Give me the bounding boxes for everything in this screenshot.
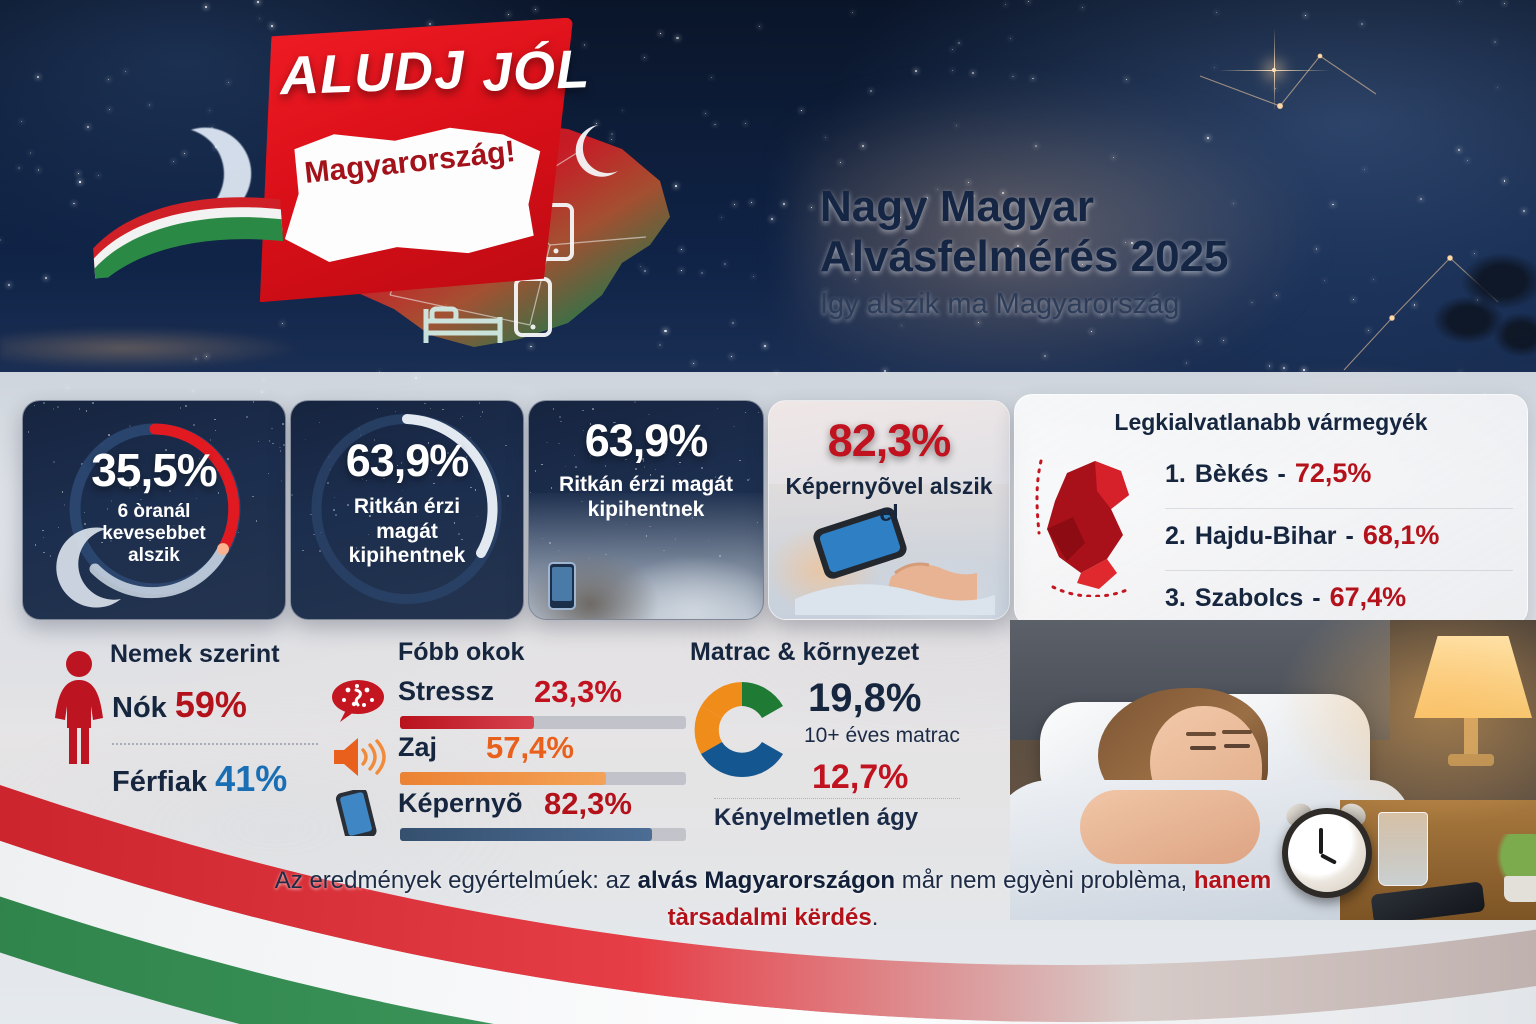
mattress-secondary-value: 12,7%: [812, 758, 908, 797]
gender-label-men: Férfiak: [112, 766, 207, 798]
cause-bar-track-screen: [400, 828, 686, 841]
segmented-donut-icon: [684, 670, 800, 790]
causes-title: Fóbb okok: [398, 638, 524, 667]
county-name: Szabolcs: [1195, 584, 1303, 613]
mattress-panel: Matrac & kõrnyezet 19,8% 10+ éves matrac…: [684, 638, 1014, 838]
county-rank: 3.: [1165, 584, 1186, 613]
stat-card-3-label: Ritkán érzi magát kipihentnek: [529, 473, 763, 522]
stat-card-1-value: 35,5%: [23, 443, 285, 497]
hungarian-flag-ribbon: [83, 179, 289, 279]
cause-bar-track-stress: [400, 716, 686, 729]
county-dash: -: [1346, 522, 1354, 551]
page-subtitle: Így alszik ma Magyarország: [820, 288, 1460, 321]
gender-row-women[interactable]: Nók 59%: [112, 684, 247, 726]
cause-bar-fill-stress: [400, 716, 534, 729]
conclusion-part2: mår nem egyèni problèma,: [895, 867, 1194, 894]
smartphone-icon: [543, 559, 583, 613]
county-rank: 2.: [1165, 522, 1186, 551]
county-pct: 67,4%: [1330, 582, 1407, 613]
conclusion-part1: Az eredmények egyértelmúek: az: [275, 867, 638, 894]
cause-label-stress: Stressz: [398, 676, 494, 707]
cause-row-noise[interactable]: Zaj 57,4%: [330, 732, 690, 786]
stat-card-3[interactable]: 63,9% Ritkán érzi magát kipihentnek: [528, 400, 764, 620]
stat-card-2-label: Ritkán érzi magát kipihentnek: [291, 495, 523, 569]
mattress-divider: [714, 798, 960, 799]
loud-speaker-icon: [330, 734, 386, 780]
cause-row-stress[interactable]: Stressz 23,3%: [330, 676, 690, 730]
conclusion-part3: .: [872, 904, 879, 931]
title-line-1: Nagy Magyar: [820, 182, 1094, 231]
gender-divider: [112, 743, 318, 745]
page-title-block: Nagy Magyar Alvásfelmérés 2025 Így alszi…: [820, 182, 1460, 321]
smartphone-icon: [330, 790, 386, 836]
county-row[interactable]: 2. Hajdu-Bihar - 68,1%: [1165, 508, 1513, 570]
title-line-2: Alvásfelmérés 2025: [820, 232, 1229, 281]
counties-title: Legkialvatlanabb vármegyék: [1015, 409, 1527, 436]
cause-value-noise: 57,4%: [486, 730, 574, 766]
gender-panel: Nemek szerint Nók 59% Férfiak 41%: [40, 640, 330, 800]
stat-card-4-value: 82,3%: [769, 415, 1009, 467]
conclusion-text: Az eredmények egyértelmúek: az alvás Mag…: [268, 862, 1278, 936]
gender-value-women: 59%: [175, 684, 247, 725]
stat-card-1-label: 6 òranál kevesebbet alszik: [23, 501, 285, 568]
county-dash: -: [1278, 460, 1286, 489]
cause-row-screen[interactable]: Képernyõ 82,3%: [330, 788, 690, 842]
stat-card-2[interactable]: 63,9% Ritkán érzi magát kipihentnek: [290, 400, 524, 620]
badge-title-line1: ALUDJ: [279, 39, 466, 107]
counties-panel: Legkialvatlanabb vármegyék 1. Bèkés - 72…: [1014, 394, 1528, 626]
county-name: Hajdu-Bihar: [1195, 522, 1337, 551]
stat-card-4[interactable]: 82,3% Képernyõvel alszik el: [768, 400, 1010, 620]
cause-value-screen: 82,3%: [544, 786, 632, 822]
stat-card-2-value: 63,9%: [291, 435, 523, 487]
mattress-secondary-label: Kényelmetlen ágy: [714, 804, 918, 832]
badge-title-line2: JÓL: [481, 38, 591, 104]
gender-title: Nemek szerint: [110, 640, 280, 669]
cause-bar-track-noise: [400, 772, 686, 785]
mattress-primary-value: 19,8%: [808, 676, 921, 721]
county-dash: -: [1312, 584, 1320, 613]
county-pct: 68,1%: [1363, 520, 1440, 551]
mattress-primary-label: 10+ éves matrac: [804, 724, 960, 748]
gender-value-men: 41%: [215, 758, 287, 799]
county-rank: 1.: [1165, 460, 1186, 489]
county-row[interactable]: 1. Bèkés - 72,5%: [1165, 447, 1513, 508]
gender-label-women: Nók: [112, 692, 167, 724]
cause-value-stress: 23,3%: [534, 674, 622, 710]
counties-list: 1. Bèkés - 72,5% 2. Hajdu-Bihar - 68,1% …: [1165, 447, 1513, 632]
gender-row-men[interactable]: Férfiak 41%: [112, 758, 287, 800]
mattress-title: Matrac & kõrnyezet: [690, 638, 919, 667]
female-figure-icon: [48, 650, 110, 766]
conclusion-bold1: alvás Magyarországon: [638, 867, 895, 894]
causes-panel: Fóbb okok Stressz 23,3% Zaj 57,4%: [330, 638, 690, 838]
stress-brain-bubble-icon: [330, 678, 386, 724]
county-name: Bèkés: [1195, 460, 1269, 489]
cause-bar-fill-screen: [400, 828, 652, 841]
cause-label-noise: Zaj: [398, 732, 437, 763]
counties-map-icon: [1033, 447, 1157, 597]
stat-card-1[interactable]: 35,5% 6 òranál kevesebbet alszik: [22, 400, 286, 620]
infographic-root: ALUDJ JÓL Magyarország! Nagy Magyar Alvá…: [0, 0, 1536, 1024]
county-pct: 72,5%: [1295, 458, 1372, 489]
stat-card-4-label: Képernyõvel alszik el: [769, 473, 1009, 527]
cause-label-screen: Képernyõ: [398, 788, 523, 819]
cause-bar-fill-noise: [400, 772, 606, 785]
stat-card-3-value: 63,9%: [529, 415, 763, 467]
